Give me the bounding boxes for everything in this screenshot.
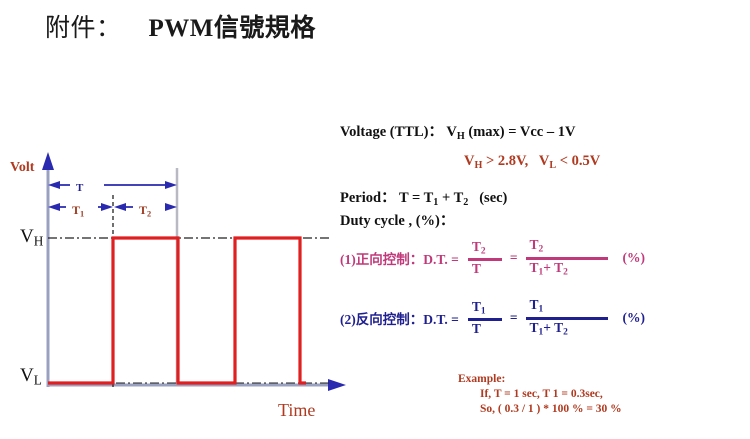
formula-forward-numerator-1: T2 <box>468 240 502 262</box>
period-t1-subscript: 1 <box>433 197 438 208</box>
y-axis-arrow-icon <box>42 152 54 170</box>
r2-num-symbol: T <box>530 297 539 312</box>
t1-subscript: 1 <box>80 209 84 218</box>
x-axis-arrow-icon <box>328 379 346 391</box>
y-axis-label: Volt <box>10 160 34 176</box>
f2-den-plus: + T <box>543 260 563 275</box>
voltage-v-subscript: H <box>457 131 465 142</box>
x-axis-label: Time <box>278 400 315 421</box>
voltage-spec-label: Voltage (TTL) <box>340 124 428 140</box>
page-title-prefix: 附件： <box>45 15 122 42</box>
threshold-vl-symbol: V <box>539 153 549 169</box>
period-unit: (sec) <box>479 190 507 206</box>
formula-forward-fraction-1: T2 T <box>468 240 502 277</box>
t2-symbol: T <box>139 203 147 217</box>
voltage-v-symbol: V <box>446 124 456 140</box>
voltage-spec-separator: ： <box>428 124 443 140</box>
f1-num-symbol: T <box>472 239 481 254</box>
t2-subscript: 2 <box>147 209 151 218</box>
example-line-2: So, ( 0.3 / 1 ) * 100 % = 30 % <box>458 402 622 417</box>
f2-num-subscript: 2 <box>539 245 544 255</box>
example-heading: Example: <box>458 373 505 385</box>
f1-den-symbol: T <box>472 261 481 276</box>
r2-den-t2-subscript: 2 <box>563 327 568 337</box>
r1-num-subscript: 1 <box>481 306 486 316</box>
formula-reverse-fraction-1: T1 T <box>468 300 502 337</box>
formula-forward-denominator-2: T1+ T2 <box>526 260 608 279</box>
period-expression-plus: + T <box>442 190 463 206</box>
formula-reverse-numerator-2: T1 <box>526 298 608 320</box>
threshold-vl-value: < 0.5V <box>560 153 600 169</box>
t2-arrow-right-icon <box>165 203 177 211</box>
f2-num-symbol: T <box>530 237 539 252</box>
period-annotation-label: T <box>76 182 83 194</box>
vl-tick-label: VL <box>20 365 42 389</box>
formula-forward-numerator-2: T2 <box>526 238 608 260</box>
page-title-main: PWM信號規格 <box>149 15 316 42</box>
period-spec-separator: ： <box>381 190 396 206</box>
period-spec-line: Period： T = T1 + T2 (sec) <box>340 186 507 208</box>
threshold-vl-subscript: L <box>549 160 556 171</box>
vl-symbol: V <box>20 365 34 386</box>
slide-page: 附件： PWM信號規格 <box>0 0 750 439</box>
waveform-svg <box>0 150 360 420</box>
example-block: Example: If, T = 1 sec, T 1 = 0.3sec, So… <box>458 372 622 418</box>
r2-den-plus: + T <box>543 320 563 335</box>
f2-den-t2-subscript: 2 <box>563 267 568 277</box>
formula-reverse-denominator-1: T <box>468 321 502 336</box>
threshold-vh-value: > 2.8V, <box>486 153 528 169</box>
period-t2-subscript: 2 <box>463 197 468 208</box>
formula-forward-equals: = <box>507 250 521 266</box>
t1-symbol: T <box>72 203 80 217</box>
pwm-square-wave <box>48 238 306 383</box>
formula-forward-control: (1)正向控制：D.T. = T2 T = T2 T1+ T2 (%) <box>340 238 645 278</box>
r2-den-t1: T <box>530 320 539 335</box>
threshold-vh-subscript: H <box>474 160 482 171</box>
period-spec-label: Period <box>340 190 381 206</box>
formula-reverse-fraction-2: T1 T1+ T2 <box>526 298 608 338</box>
formula-reverse-lead: (2)反向控制：D.T. = <box>340 308 463 328</box>
period-arrow-right-icon <box>165 181 177 189</box>
formula-reverse-control: (2)反向控制：D.T. = T1 T = T1 T1+ T2 (%) <box>340 298 645 338</box>
period-arrow-left-icon <box>48 181 60 189</box>
r1-num-symbol: T <box>472 299 481 314</box>
formula-forward-unit: (%) <box>613 250 646 266</box>
r1-den-symbol: T <box>472 321 481 336</box>
f1-num-subscript: 2 <box>481 246 486 256</box>
threshold-vh-symbol: V <box>464 153 474 169</box>
t2-arrow-left-icon <box>114 203 126 211</box>
vh-symbol: V <box>20 226 34 247</box>
t1-arrow-right-icon <box>101 203 113 211</box>
formula-reverse-unit: (%) <box>613 310 646 326</box>
formula-forward-fraction-2: T2 T1+ T2 <box>526 238 608 278</box>
vh-tick-label: VH <box>20 226 43 250</box>
pwm-waveform-chart <box>0 150 360 420</box>
t1-annotation-label: T1 <box>72 203 84 218</box>
vh-subscript: H <box>34 234 44 249</box>
duty-cycle-separator: ： <box>440 213 455 229</box>
t2-annotation-label: T2 <box>139 203 151 218</box>
voltage-spec-line: Voltage (TTL)： VH (max) = Vcc – 1V <box>340 120 575 142</box>
r2-num-subscript: 1 <box>539 305 544 315</box>
page-title: 附件： PWM信號規格 <box>45 8 316 44</box>
t1-arrow-left-icon <box>48 203 60 211</box>
period-expression-start: T = T <box>399 190 433 206</box>
formula-reverse-equals: = <box>507 310 521 326</box>
formula-reverse-denominator-2: T1+ T2 <box>526 320 608 339</box>
vl-subscript: L <box>34 373 42 388</box>
example-line-1: If, T = 1 sec, T 1 = 0.3sec, <box>458 387 622 402</box>
formula-forward-lead: (1)正向控制：D.T. = <box>340 248 463 268</box>
formula-forward-denominator-1: T <box>468 261 502 276</box>
f2-den-t1: T <box>530 260 539 275</box>
duty-cycle-heading: Duty cycle , (%)： <box>340 209 454 230</box>
threshold-line: VH > 2.8V, VL < 0.5V <box>464 153 600 171</box>
duty-cycle-label: Duty cycle , (%) <box>340 213 440 229</box>
voltage-expression: (max) = Vcc – 1V <box>468 124 575 140</box>
formula-reverse-numerator-1: T1 <box>468 300 502 322</box>
